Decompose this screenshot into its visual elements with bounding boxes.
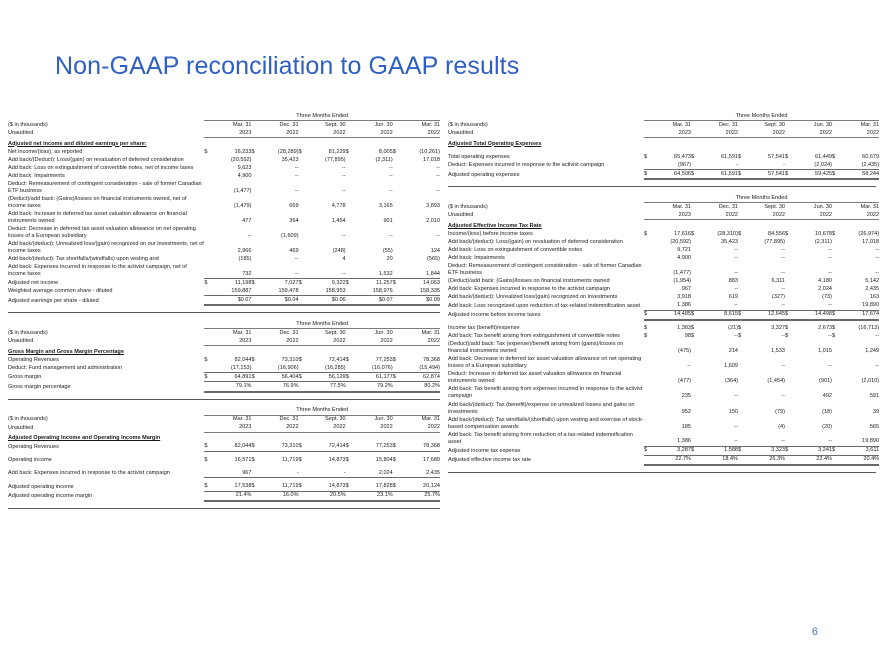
row-label: Add back: Increase in deferred tax asset… [8,210,204,225]
row-value-0: 1,386 [650,431,691,446]
month-header-2: Sept. 30 [744,121,785,130]
row-value-2: -- [305,225,346,240]
row-label: Deduct: Remeasurement of contingent cons… [448,262,644,277]
row-value-1: 214 [697,341,738,356]
row-value-1: 669 [257,195,298,210]
row-value-3: 1,015 [791,341,832,356]
row-value-3: -- [791,254,832,262]
row-value-0: (20,592) [650,238,691,246]
section-gap [8,313,440,320]
table-row: Add back/(deduct): Unrealized loss/(gain… [8,241,440,256]
month-header-0: Mar. 31 [650,121,691,130]
year-header-0: 2023 [650,211,691,220]
row-value-0: 967 [650,286,691,294]
row-label: Deduct: Expenses incurred in response to… [448,161,644,170]
row-value-1: 73,310 [257,356,298,364]
year-header-0: 2023 [210,337,251,346]
section-heading: Gross Margin and Gross Margin Percentage [8,346,440,357]
table-row: Deduct: Expenses incurred in response to… [448,161,879,170]
month-header-3: Jun. 30 [791,121,832,130]
period-header-row: Three Months Ended [8,320,440,329]
year-header-1: 2022 [257,424,298,433]
row-label: Adjusted effective income tax rate [448,455,644,465]
row-value-4: (26,974) [838,230,879,238]
row-value-3: -- [352,180,393,195]
row-value-1: -- [257,172,298,180]
year-header-2: 2022 [744,211,785,220]
row-value-0: 21.4% [210,491,251,501]
row-value-2: 77.5% [305,382,346,392]
table-row: Add back: Impairments4,900-------- [448,254,879,262]
month-header-0: Mar. 31 [210,415,251,424]
row-value-1: -- [697,254,738,262]
row-value-3: -- [352,225,393,240]
table-row: Gross margin$64,891$56,404$56,129$61,177… [8,373,440,382]
row-value-3: (2,311) [352,156,393,164]
audit-label: Unaudited [448,129,644,138]
row-value-1: - [697,161,738,170]
month-header-3: Jun. 30 [791,203,832,212]
row-value-1: 364 [257,210,298,225]
row-value-1: 16.0% [257,491,298,501]
row-value-1: - [257,469,298,478]
table-row: Operating Revenues$82,044$73,310$72,414$… [8,443,440,452]
row-value-2: -- [305,264,346,279]
row-value-2: 72,414 [305,356,346,364]
row-value-4: -- [838,356,879,371]
row-value-1: -- [697,386,738,401]
table-row: Add back: Increase in deferred tax asset… [8,210,440,225]
row-value-2: (77,895) [305,156,346,164]
page-title: Non-GAAP reconciliation to GAAP results [55,52,519,81]
year-header-0: 2023 [650,129,691,138]
table-row: (Deduct)/add back: Tax (expense)/benefit… [448,341,879,356]
table-row: Adjusted operating expenses$64,506$61,59… [448,170,879,180]
scale-label: ($ in thousands) [8,329,204,338]
row-value-2: 9,322 [305,279,346,288]
row-value-3: (2,024) [791,161,832,170]
row-value-1: 35,423 [697,238,738,246]
row-value-4: 2,435 [838,286,879,294]
year-header-3: 2022 [352,129,393,138]
row-value-4: (15,494) [399,364,440,373]
table-row: Income tax (benefit)/expense$1,383$(21)$… [448,325,879,333]
month-header-4: Mar. 31 [399,121,440,130]
row-value-0: (17,153) [210,364,251,373]
financial-table-adjusted-effective-income-tax-rate: Three Months Ended($ in thousands)Mar. 3… [448,194,879,466]
row-label: Operating Revenues [8,356,204,364]
row-label: Adjusted operating income [8,483,204,492]
row-value-3: 1,532 [352,264,393,279]
financial-table-adjusted-operating-income: Three Months Ended($ in thousands)Mar. 3… [8,407,440,502]
row-value-0: 9,721 [650,246,691,254]
row-value-4: -- [838,262,879,277]
month-header-2: Sept. 30 [305,121,346,130]
year-header-1: 2022 [257,337,298,346]
row-label: (Deduct)/add back: (Gains)/losses on fin… [448,278,644,286]
row-value-4: 17,689 [399,456,440,464]
year-header-row: Unaudited20232022202220222022 [8,424,440,433]
year-header-1: 2022 [697,211,738,220]
row-value-4: 158,335 [399,287,440,296]
row-value-0: (1,954) [650,278,691,286]
year-header-row: Unaudited20232022202220222022 [448,129,879,138]
row-value-4: 78,368 [399,443,440,452]
row-value-3: (20) [791,416,832,431]
row-value-1: 11,719 [257,483,298,492]
month-header-3: Jun. 30 [352,329,393,338]
row-value-3: 3,241 [791,446,832,455]
table-row: Adjusted income before income taxes$14,4… [448,310,879,320]
row-value-3: 77,253 [352,356,393,364]
row-value-1: -- [697,302,738,311]
row-value-2: 20.5% [305,491,346,501]
row-value-1: -- [697,333,738,341]
row-value-1: $0.04 [257,296,298,306]
month-header-4: Mar. 31 [399,415,440,424]
scale-label: ($ in thousands) [8,415,204,424]
row-value-2: 26.3% [744,455,785,465]
year-header-1: 2022 [697,129,738,138]
row-label: (Deduct)/add back: Tax (expense)/benefit… [448,341,644,356]
row-label: (Deduct)/add back: (Gains)/losses on fin… [8,195,204,210]
table-row: Adjusted effective income tax rate22.7%1… [448,455,879,465]
row-value-2: 14,873 [305,456,346,464]
section-heading: Adjusted Total Operating Expenses [448,138,879,149]
year-header-4: 2022 [838,129,879,138]
row-value-3: 59,425 [791,170,832,180]
row-value-1: 61,591 [697,170,738,180]
row-value-1: -- [697,262,738,277]
audit-label: Unaudited [8,424,204,433]
month-header-1: Dec. 31 [257,329,298,338]
row-value-3: -- [791,333,832,341]
row-value-3: 14,498 [791,310,832,320]
row-value-4: 25.7% [399,491,440,501]
row-value-1: 883 [697,278,738,286]
row-value-2: -- [305,180,346,195]
year-header-3: 2022 [791,129,832,138]
section-heading: Adjusted Operating Income and Operating … [8,432,440,443]
row-value-0: (477) [650,371,691,386]
table-row: Operating income$16,571$11,719$14,873$15… [8,456,440,464]
year-header-4: 2022 [399,337,440,346]
row-value-2: 1,533 [744,341,785,356]
row-value-2: -- [744,302,785,311]
row-value-2: -- [744,356,785,371]
row-label: Add back: Expenses incurred in response … [8,469,204,478]
row-value-4: 2,010 [399,210,440,225]
right-column: Three Months Ended($ in thousands)Mar. 3… [448,112,876,473]
row-value-1: -- [697,431,738,446]
row-value-4: 39 [838,401,879,416]
row-value-2: (327) [744,294,785,302]
audit-label: Unaudited [8,129,204,138]
row-label: Deduct: Increase in deferred tax asset v… [448,371,644,386]
row-label: Add back: Tax benefit arising from extin… [448,333,644,341]
row-value-2: 14,873 [305,483,346,492]
table-row: Add back: Tax benefit arising from extin… [448,333,879,341]
row-value-0: 9,623 [210,164,251,172]
row-label: Deduct: Remeasurement of contingent cons… [8,180,204,195]
row-value-0: 235 [650,386,691,401]
row-label: Operating Revenues [8,443,204,452]
row-value-2: -- [744,254,785,262]
month-header-1: Dec. 31 [697,203,738,212]
row-value-2: 3,323 [744,446,785,455]
table-group-right: Three Months Ended($ in thousands)Mar. 3… [448,112,876,473]
row-value-4: 5,142 [838,278,879,286]
row-value-4: (565) [399,256,440,264]
row-value-0: (1,479) [210,195,251,210]
month-header-0: Mar. 31 [210,329,251,338]
row-value-1: 76.9% [257,382,298,392]
table-row: Adjusted earnings per share - diluted$0.… [8,296,440,306]
section-heading-row: Adjusted Total Operating Expenses [448,138,879,149]
row-value-2: $0.06 [305,296,346,306]
row-value-0: (1,477) [210,180,251,195]
row-value-4: 163 [838,294,879,302]
row-value-3: $0.07 [352,296,393,306]
row-label: Add back/(deduct): Unrealized loss/(gain… [448,294,644,302]
row-value-1: 11,719 [257,456,298,464]
row-value-1: -- [257,264,298,279]
row-value-4: 20.4% [838,455,879,465]
row-value-4: -- [838,333,879,341]
row-value-2: 6,311 [744,278,785,286]
row-value-3: 61,177 [352,373,393,382]
row-value-0: 82,044 [210,356,251,364]
table-row: Deduct: Remeasurement of contingent cons… [8,180,440,195]
row-label: Add back/(deduct): Tax windfalls/(shortf… [448,416,644,431]
row-value-3: 901 [352,210,393,225]
period-header-row: Three Months Ended [8,407,440,416]
row-value-2: -- [744,333,785,341]
year-header-3: 2022 [791,211,832,220]
month-header-2: Sept. 30 [305,329,346,338]
row-value-1: 35,423 [257,156,298,164]
row-value-4: 19,890 [838,302,879,311]
row-label: Add back: Impairments [448,254,644,262]
row-value-1: 1,588 [697,446,738,455]
year-header-4: 2022 [399,129,440,138]
table-row: Add back: Loss on extinguishment of conv… [448,246,879,254]
financial-table-gross-margin: Three Months Ended($ in thousands)Mar. 3… [8,320,440,392]
row-value-3: 4,180 [791,278,832,286]
row-value-3: 20 [352,256,393,264]
table-row: (Deduct)/add back: (Gains)/losses on fin… [448,278,879,286]
row-value-0: 2,966 [210,241,251,256]
row-value-4: 565 [838,416,879,431]
row-value-1: (28,310) [697,230,738,238]
header-spacer [8,407,204,416]
row-value-1: (364) [697,371,738,386]
row-value-1: 18.4% [697,455,738,465]
row-value-1: -- [697,416,738,431]
row-value-2: -- [744,286,785,294]
row-label: Net income/(loss), as reported [8,148,204,156]
period-header-row: Three Months Ended [448,112,879,121]
row-value-0: 952 [650,401,691,416]
row-value-0: (1,477) [650,262,691,277]
row-value-4: (16,713) [838,325,879,333]
month-header-row: ($ in thousands)Mar. 31Dec. 31Sept. 30Ju… [8,329,440,338]
year-header-row: Unaudited20232022202220222022 [8,129,440,138]
row-value-0: 1,386 [650,302,691,311]
table-row: Add back: Loss recognized upon reduction… [448,302,879,311]
section-heading-row: Adjusted net income and diluted earnings… [8,138,440,149]
row-value-0: 65,473 [650,153,691,161]
scale-label: ($ in thousands) [8,121,204,130]
row-value-3: (73) [791,294,832,302]
row-value-2: -- [305,172,346,180]
row-value-2: 158,953 [305,287,346,296]
table-row: Add back: Impairments4,900-------- [8,172,440,180]
row-value-4: (10,261) [399,148,440,156]
row-value-0: 3,918 [650,294,691,302]
section-heading-row: Gross Margin and Gross Margin Percentage [8,346,440,357]
row-value-1: 1,609 [697,356,738,371]
row-value-4: -- [838,254,879,262]
row-value-2: 81,229 [305,148,346,156]
row-value-2: 57,541 [744,170,785,180]
row-label: Add back: Impairments [8,172,204,180]
month-header-4: Mar. 31 [838,121,879,130]
row-value-2: (248) [305,241,346,256]
section-gap [448,187,876,194]
row-value-2: 57,541 [744,153,785,161]
row-value-1: -- [697,286,738,294]
page-number: 6 [812,626,818,638]
row-value-2: (77,895) [744,238,785,246]
month-header-2: Sept. 30 [305,415,346,424]
row-value-4: -- [399,164,440,172]
row-label: Gross margin [8,373,204,382]
header-spacer [448,194,644,203]
row-value-4: 591 [838,386,879,401]
row-value-1: 8,615 [697,310,738,320]
month-header-0: Mar. 31 [650,203,691,212]
row-value-3: 2,673 [791,325,832,333]
row-value-3: 22.4% [791,455,832,465]
row-label: Add back: Tax benefit arising from expen… [448,386,644,401]
financial-table-adjusted-net-income: Three Months Ended($ in thousands)Mar. 3… [8,112,440,306]
slide-root: Non-GAAP reconciliation to GAAP results … [0,0,880,660]
row-value-3: -- [791,431,832,446]
row-value-3: 8,005 [352,148,393,156]
table-row: Weighted average common share - diluted1… [8,287,440,296]
row-value-0: $0.07 [210,296,251,306]
row-value-2: - [744,161,785,170]
row-value-2: 1,454 [305,210,346,225]
period-header: Three Months Ended [644,194,879,203]
row-value-0: 17,616 [650,230,691,238]
header-spacer [448,112,644,121]
row-value-1: -- [257,256,298,264]
row-value-4: 124 [399,241,440,256]
row-value-2: 12,645 [744,310,785,320]
row-value-0: 159,887 [210,287,251,296]
header-spacer [8,112,204,121]
table-row: Adjusted operating income margin21.4%16.… [8,491,440,501]
table-row: Deduct: Decrease in deferred tax asset v… [8,225,440,240]
row-value-2: -- [744,262,785,277]
row-label: Adjusted income before income taxes [448,310,644,320]
row-value-3: (901) [791,371,832,386]
row-value-3: (2,311) [791,238,832,246]
period-header: Three Months Ended [204,407,440,416]
section-heading: Adjusted Effective Income Tax Rate [448,220,879,231]
row-value-0: 732 [210,264,251,279]
month-header-3: Jun. 30 [352,121,393,130]
table-row: Adjusted net income$11,198$7,027$9,322$1… [8,279,440,288]
row-value-1: -- [257,164,298,172]
table-row: Add back: Expenses incurred in response … [8,264,440,279]
row-value-0: 16,571 [210,456,251,464]
row-value-2: 56,129 [305,373,346,382]
row-value-0: 477 [210,210,251,225]
row-value-2: 84,556 [744,230,785,238]
left-column: Three Months Ended($ in thousands)Mar. 3… [8,112,440,509]
row-value-0: 967 [210,469,251,478]
row-value-4: 19,890 [838,431,879,446]
row-value-3: -- [791,356,832,371]
year-header-3: 2022 [352,424,393,433]
row-value-3: 10,678 [791,230,832,238]
table-row: Adjusted income tax expense$3,287$1,588$… [448,446,879,455]
row-value-1: 7,027 [257,279,298,288]
row-label: Adjusted earnings per share - diluted [8,296,204,306]
row-label: Add back/(Deduct): Loss/(gain) on revalu… [8,156,204,164]
row-value-3: 17,828 [352,483,393,492]
table-row: Total operating expenses$65,473$61,591$5… [448,153,879,161]
row-value-0: 3,287 [650,446,691,455]
row-value-4: 20,124 [399,483,440,492]
financial-table-adjusted-total-operating-expenses: Three Months Ended($ in thousands)Mar. 3… [448,112,879,180]
row-value-4: 80.2% [399,382,440,392]
row-value-4: 2,435 [399,469,440,478]
row-label: Add back: Decrease in deferred tax asset… [448,356,644,371]
row-value-0: 17,538 [210,483,251,492]
year-header-row: Unaudited20232022202220222022 [8,337,440,346]
row-value-4: 17,018 [399,156,440,164]
row-value-0: 82,044 [210,443,251,452]
row-value-2: 3,327 [744,325,785,333]
row-value-4: 3,611 [838,446,879,455]
row-value-2: 72,414 [305,443,346,452]
table-row: Add back/(deduct): Loss/(gain) on revalu… [448,238,879,246]
row-value-0: 22.7% [650,455,691,465]
row-label: Add back: Expenses incurred in response … [448,286,644,294]
table-row: Gross margin percentage79.1%76.9%77.5%79… [8,382,440,392]
row-label: Adjusted income tax expense [448,446,644,455]
row-value-1: 150 [697,401,738,416]
table-row: (Deduct)/add back: (Gains)/losses on fin… [8,195,440,210]
row-value-4: 3,893 [399,195,440,210]
row-label: Gross margin percentage [8,382,204,392]
row-value-1: (1,609) [257,225,298,240]
row-value-1: (16,906) [257,364,298,373]
row-label: Income/(loss) before income taxes [448,230,644,238]
row-value-3: 3,165 [352,195,393,210]
row-value-0: -- [210,225,251,240]
row-value-2: -- [744,246,785,254]
table-row: Add back: Decrease in deferred tax asset… [448,356,879,371]
year-header-2: 2022 [305,129,346,138]
row-value-3: 2,024 [352,469,393,478]
row-value-2: (79) [744,401,785,416]
row-value-4: -- [399,225,440,240]
